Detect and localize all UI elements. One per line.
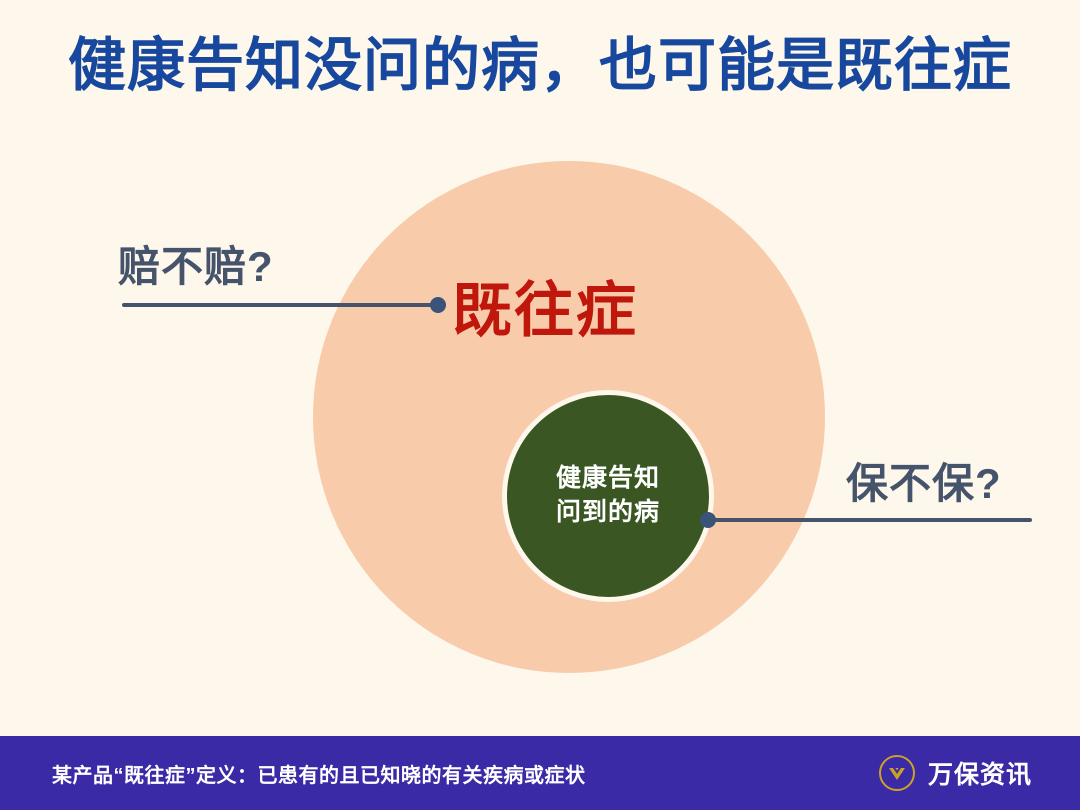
outer-circle-label: 既往症 [452,262,638,349]
slide-root: 健康告知没问的病，也可能是既往症 既往症 健康告知 问到的病 赔不赔? 保不保?… [0,0,1080,810]
inner-circle-label-line-1: 健康告知 [556,462,660,496]
callout-leader-line-right [710,518,1032,522]
footer-bar: 某产品“既往症”定义：已患有的且已知晓的有关疾病或症状 万保资讯 [0,736,1080,810]
inner-circle-label-line-2: 问到的病 [556,496,660,530]
callout-dot-right [700,512,716,528]
callout-leader-line-left [122,303,438,307]
brand-logo-icon [879,755,915,791]
footer-definition-note: 某产品“既往症”定义：已患有的且已知晓的有关疾病或症状 [52,759,586,788]
inner-circle-declared-conditions: 健康告知 问到的病 [502,390,714,602]
brand-name-label: 万保资讯 [928,755,1032,791]
callout-dot-left [430,297,446,313]
callout-label-left: 赔不赔? [118,233,274,294]
venn-diagram: 既往症 健康告知 问到的病 赔不赔? 保不保? [0,0,1080,736]
callout-label-right: 保不保? [846,450,1002,511]
brand-lockup: 万保资讯 [879,755,1032,791]
